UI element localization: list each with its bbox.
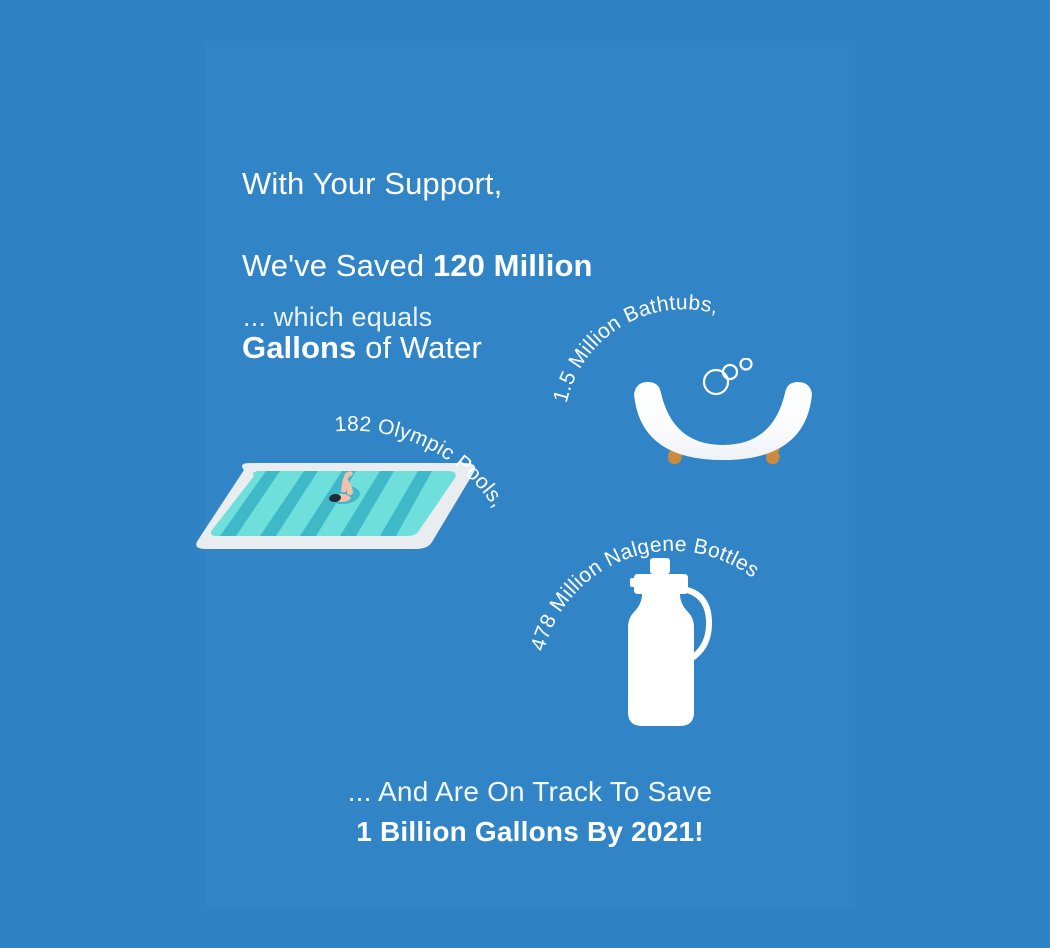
infographic-canvas: With Your Support, We've Saved 120 Milli… xyxy=(0,0,1050,948)
headline-unit: Gallons xyxy=(242,330,356,365)
headline-line-3-suffix: of Water xyxy=(356,330,482,365)
nalgene-bottles-label: 478 Million Nalgene Bottles xyxy=(520,500,790,685)
closing-statement: ... And Are On Track To Save 1 Billion G… xyxy=(240,772,820,852)
bathtubs-label-text: 1.5 Million Bathtubs, xyxy=(549,291,721,405)
closing-line-2: 1 Billion Gallons By 2021! xyxy=(240,812,820,852)
olympic-pools-label-text: 182 Olympic Pools, xyxy=(334,413,510,512)
headline-amount: 120 Million xyxy=(433,248,593,283)
headline-line-1: With Your Support, xyxy=(242,166,502,201)
nalgene-bottles-label-text: 478 Million Nalgene Bottles xyxy=(527,533,764,654)
headline-line-2-prefix: We've Saved xyxy=(242,248,433,283)
equals-text: ... which equals xyxy=(243,302,432,333)
closing-line-1: ... And Are On Track To Save xyxy=(240,772,820,812)
bathtubs-label: 1.5 Million Bathtubs, xyxy=(548,282,798,417)
